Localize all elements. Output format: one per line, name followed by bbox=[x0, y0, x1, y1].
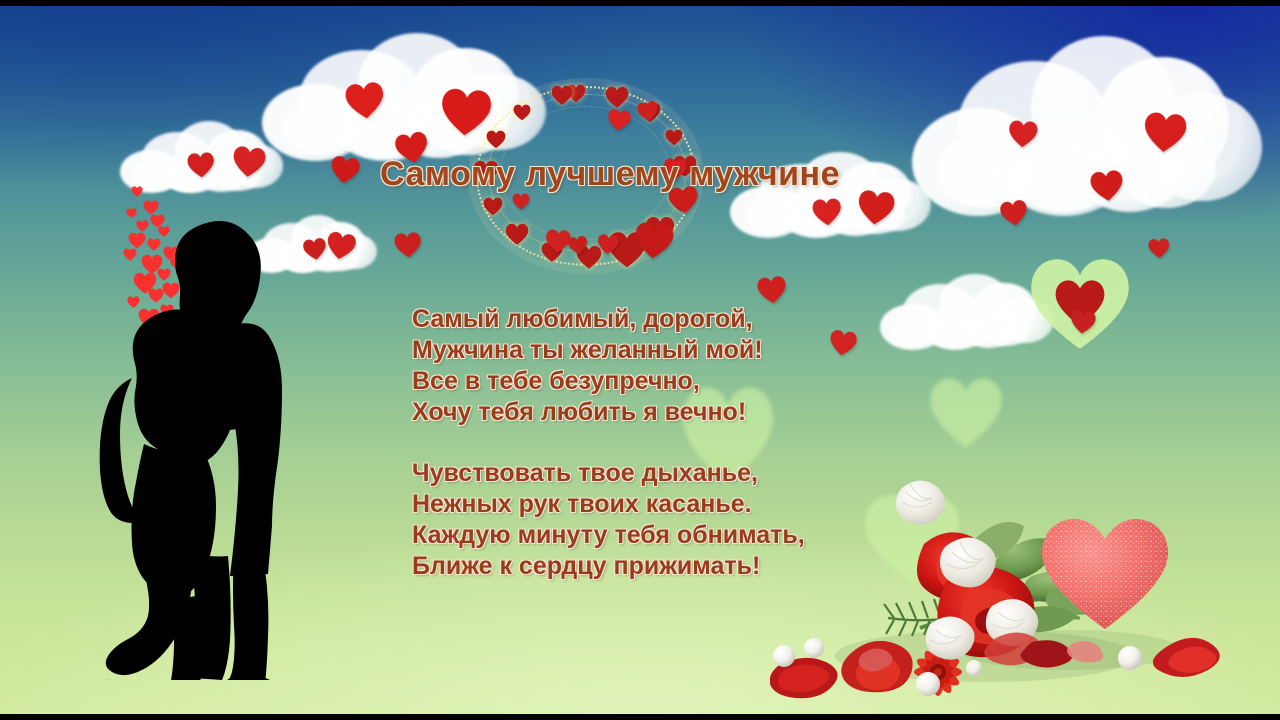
poem-line: Ближе к сердцу прижимать! bbox=[412, 551, 882, 582]
poem-line: Все в тебе безупречно, bbox=[412, 366, 882, 397]
poem-line: Хочу тебя любить я вечно! bbox=[412, 397, 882, 428]
letterbox-bar-bottom bbox=[0, 714, 1280, 720]
poem-line: Нежных рук твоих касанье. bbox=[412, 489, 882, 520]
poem-line: Каждую минуту тебя обнимать, bbox=[412, 520, 882, 551]
greeting-card: Самому лучшему мужчине Самый любимый, до… bbox=[0, 0, 1280, 720]
poem-line: Мужчина ты желанный мой! bbox=[412, 335, 882, 366]
poem-block: Самый любимый, дорогой, Мужчина ты желан… bbox=[412, 304, 882, 582]
poem-stanza-1: Самый любимый, дорогой, Мужчина ты желан… bbox=[412, 304, 882, 428]
poem-line: Самый любимый, дорогой, bbox=[412, 304, 882, 335]
poem-line: Чувствовать твое дыханье, bbox=[412, 458, 882, 489]
letterbox-bar-top bbox=[0, 0, 1280, 6]
poem-stanza-2: Чувствовать твое дыханье, Нежных рук тво… bbox=[412, 458, 882, 582]
